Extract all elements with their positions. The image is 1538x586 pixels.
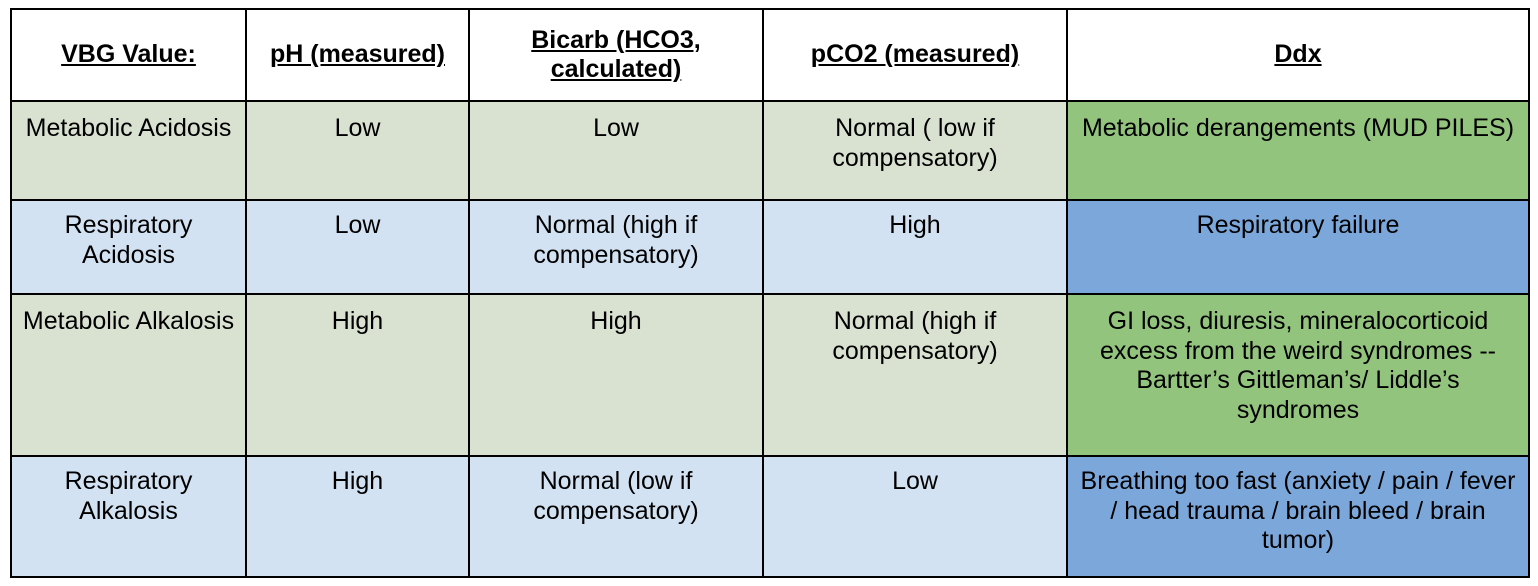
cell-bicarb: High (469, 294, 763, 456)
table-row: Metabolic Alkalosis High High Normal (hi… (11, 294, 1529, 456)
cell-pco2: Normal (high if compensatory) (763, 294, 1067, 456)
cell-vbg-value: Metabolic Acidosis (11, 101, 246, 200)
cell-ph: High (246, 456, 469, 577)
cell-pco2: Normal ( low if compensatory) (763, 101, 1067, 200)
cell-ddx: GI loss, diuresis, mineralocorticoid exc… (1067, 294, 1529, 456)
cell-ddx: Breathing too fast (anxiety / pain / fev… (1067, 456, 1529, 577)
column-header-vbg-value: VBG Value: (11, 9, 246, 101)
table-row: Respiratory Acidosis Low Normal (high if… (11, 200, 1529, 294)
column-header-pco2: pCO2 (measured) (763, 9, 1067, 101)
table-row: Metabolic Acidosis Low Low Normal ( low … (11, 101, 1529, 200)
cell-bicarb: Normal (high if compensatory) (469, 200, 763, 294)
cell-ddx: Metabolic derangements (MUD PILES) (1067, 101, 1529, 200)
cell-ddx: Respiratory failure (1067, 200, 1529, 294)
table-header: VBG Value: pH (measured) Bicarb (HCO3, c… (11, 9, 1529, 101)
vbg-table-container: VBG Value: pH (measured) Bicarb (HCO3, c… (10, 8, 1528, 576)
cell-vbg-value: Metabolic Alkalosis (11, 294, 246, 456)
column-header-bicarb: Bicarb (HCO3, calculated) (469, 9, 763, 101)
cell-bicarb: Low (469, 101, 763, 200)
cell-vbg-value: Respiratory Alkalosis (11, 456, 246, 577)
vbg-interpretation-table: VBG Value: pH (measured) Bicarb (HCO3, c… (10, 8, 1530, 578)
cell-ph: Low (246, 200, 469, 294)
column-header-ddx: Ddx (1067, 9, 1529, 101)
cell-ph: High (246, 294, 469, 456)
cell-pco2: High (763, 200, 1067, 294)
cell-vbg-value: Respiratory Acidosis (11, 200, 246, 294)
table-row: Respiratory Alkalosis High Normal (low i… (11, 456, 1529, 577)
cell-bicarb: Normal (low if compensatory) (469, 456, 763, 577)
table-body: Metabolic Acidosis Low Low Normal ( low … (11, 101, 1529, 577)
cell-ph: Low (246, 101, 469, 200)
column-header-ph: pH (measured) (246, 9, 469, 101)
header-row: VBG Value: pH (measured) Bicarb (HCO3, c… (11, 9, 1529, 101)
cell-pco2: Low (763, 456, 1067, 577)
